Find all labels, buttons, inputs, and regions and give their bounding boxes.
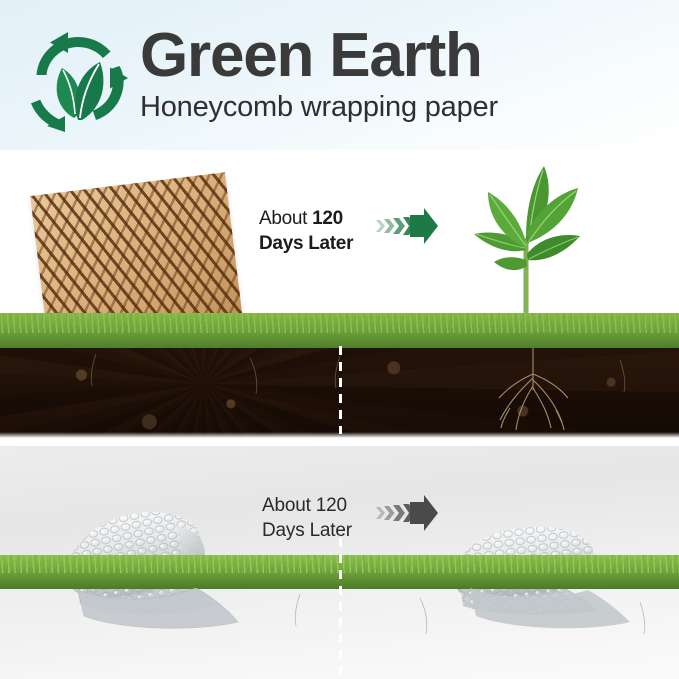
biodegradable-comparison-panel: About 120 Days Later (0, 150, 679, 442)
plastic-comparison-panel: About 120 Days Later (0, 446, 679, 679)
caption-prefix-top: About (259, 208, 312, 229)
green-right-arrow-icon (376, 208, 438, 244)
plastic-sheet-buried-left (78, 588, 238, 628)
panel-divider-top (339, 346, 342, 434)
stage-caption-plastic: About 120 Days Later (262, 493, 380, 543)
stage-caption-biodegradable: About 120 Days Later (259, 206, 374, 256)
page-subtitle: Honeycomb wrapping paper (140, 90, 660, 124)
header-banner: Green Earth Honeycomb wrapping paper (0, 0, 679, 150)
recycle-leaves-icon (24, 28, 132, 132)
panel-divider-bottom (339, 538, 342, 679)
grass-layer-top (0, 313, 679, 349)
plant-roots (499, 348, 568, 430)
gray-right-arrow-icon (376, 495, 438, 531)
plastic-sheet-buried-right (470, 588, 630, 628)
caption-prefix-bottom: About (262, 495, 316, 516)
caption-suffix-bottom: Days Later (262, 520, 352, 541)
product-infographic: Green Earth Honeycomb wrapping paper (0, 0, 679, 679)
brand-block: Green Earth Honeycomb wrapping paper (140, 24, 660, 124)
caption-number-top: 120 (312, 208, 343, 229)
page-title: Green Earth (140, 24, 660, 88)
caption-number-bottom: 120 (316, 495, 347, 516)
grass-blades-top (0, 313, 679, 333)
caption-suffix-top: Days Later (259, 233, 353, 254)
